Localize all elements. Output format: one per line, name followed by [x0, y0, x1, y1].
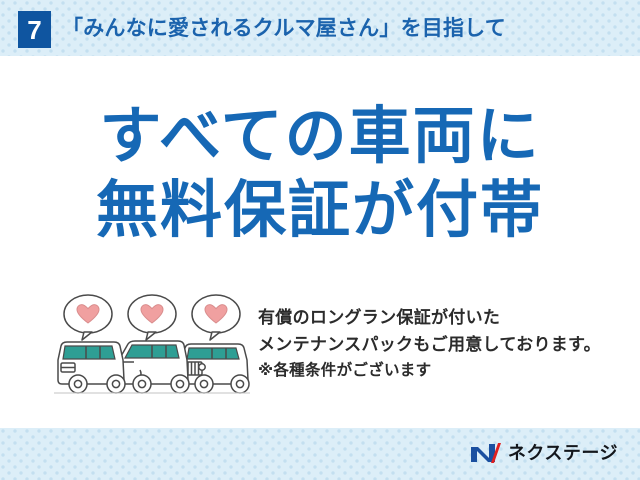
main-content-panel: すべての車両に 無料保証が付帯: [0, 56, 640, 428]
vehicles-illustration: [52, 292, 252, 400]
body-line-2: メンテナンスパックもご用意しております。: [258, 331, 630, 358]
nextage-n-logo-icon: [469, 442, 501, 464]
header-title: 「みんなに愛されるクルマ屋さん」を目指して: [62, 13, 506, 45]
section-number-label: 7: [27, 17, 41, 43]
brand-logo: ネクステージ: [469, 442, 618, 464]
vehicle-minivan: [120, 341, 189, 393]
body-copy: 有償のロングラン保証が付いた メンテナンスパックもご用意しております。 ※各種条…: [258, 304, 630, 384]
vehicle-kei-wagon: [58, 342, 125, 393]
headline-line-1: すべての車両に: [0, 104, 640, 170]
vehicle-suv: [181, 344, 249, 393]
brand-name-label: ネクステージ: [508, 442, 618, 464]
advertisement-page: 7 「みんなに愛されるクルマ屋さん」を目指して すべての車両に 無料保証が付帯: [0, 0, 640, 480]
headline-line-2: 無料保証が付帯: [0, 178, 640, 244]
section-number-badge: 7: [18, 11, 51, 48]
body-line-note: ※各種条件がございます: [258, 358, 630, 384]
body-line-1: 有償のロングラン保証が付いた: [258, 304, 630, 331]
